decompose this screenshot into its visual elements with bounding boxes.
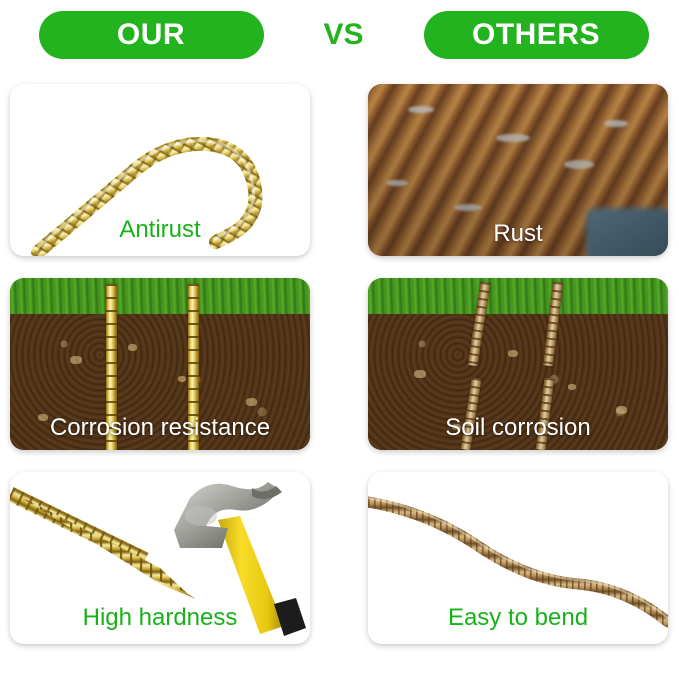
antirust-scene: Antirust [10,84,310,256]
card-others-rust: Rust [368,84,668,256]
card-our-corrosion-resistance: Corrosion resistance [10,278,310,450]
easy-to-bend-scene: Easy to bend [368,472,668,644]
caption-high-hardness: High hardness [10,606,310,630]
caption-corrosion-resistance: Corrosion resistance [10,416,310,440]
card-our-high-hardness: High hardness [10,472,310,644]
grass-layer [368,278,668,314]
header-bar: OUR VS OTHERS [0,0,679,70]
high-hardness-scene: High hardness [10,472,310,644]
vs-label: VS [316,18,372,52]
others-pill: OTHERS [424,11,649,59]
grass-layer [10,278,310,314]
comparison-grid: Antirust Rust [0,70,679,673]
caption-rust: Rust [368,222,668,246]
comparison-infographic: OUR VS OTHERS [0,0,679,673]
rust-scene: Rust [368,84,668,256]
caption-soil-corrosion: Soil corrosion [368,416,668,440]
card-our-antirust: Antirust [10,84,310,256]
our-pill: OUR [39,11,264,59]
card-others-soil-corrosion: Soil corrosion [368,278,668,450]
card-others-easy-to-bend: Easy to bend [368,472,668,644]
caption-easy-to-bend: Easy to bend [368,606,668,630]
corrosion-resistance-scene: Corrosion resistance [10,278,310,450]
caption-antirust: Antirust [10,218,310,242]
soil-corrosion-scene: Soil corrosion [368,278,668,450]
